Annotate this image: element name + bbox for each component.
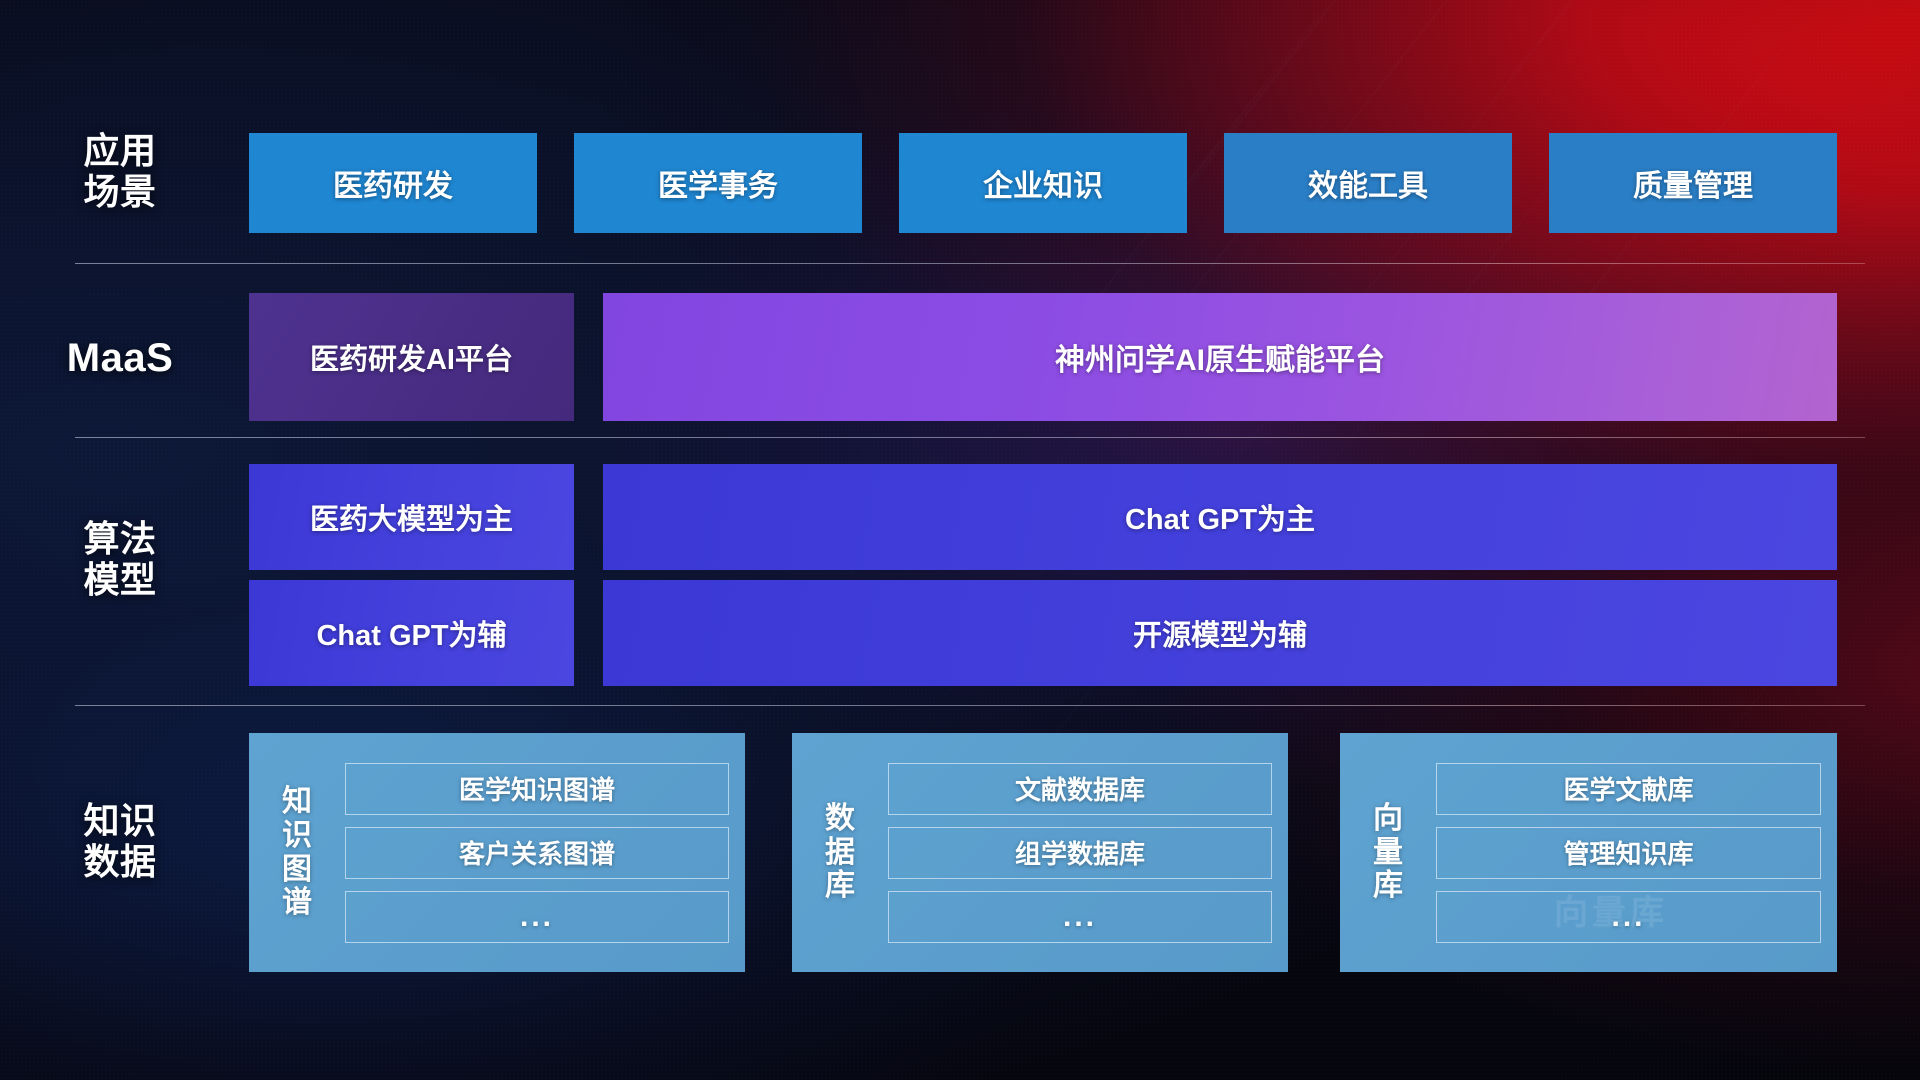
knowledge-item-2-2[interactable]: ... <box>1436 891 1821 943</box>
knowledge-item-1-0[interactable]: 文献数据库 <box>888 763 1272 815</box>
algo-cell-0-left-label: 医药大模型为主 <box>310 496 513 538</box>
app-cell-0-label: 医药研发 <box>333 161 453 205</box>
knowledge-panel-0-title: 知 识 图 谱 <box>249 785 345 919</box>
algo-cell-1-left-label: Chat GPT为辅 <box>316 612 506 654</box>
knowledge-panel-1-items: 文献数据库 组学数据库 ... <box>888 763 1272 943</box>
algo-cell-0-right[interactable]: Chat GPT为主 <box>603 464 1837 570</box>
knowledge-panel-2-title: 向 量 库 <box>1340 802 1436 903</box>
app-cell-4-label: 质量管理 <box>1633 161 1753 205</box>
knowledge-panel-0-items: 医学知识图谱 客户关系图谱 ... <box>345 763 729 943</box>
knowledge-panel-1-title: 数 据 库 <box>792 802 888 903</box>
knowledge-item-2-0[interactable]: 医学文献库 <box>1436 763 1821 815</box>
knowledge-item-1-1[interactable]: 组学数据库 <box>888 827 1272 879</box>
divider-application-maas <box>75 263 1865 264</box>
app-cell-1-label: 医学事务 <box>658 161 778 205</box>
knowledge-item-1-2[interactable]: ... <box>888 891 1272 943</box>
knowledge-panel-2-items: 医学文献库 管理知识库 ... <box>1436 763 1821 943</box>
maas-cell-left-label: 医药研发AI平台 <box>310 336 513 378</box>
maas-cell-right-label: 神州问学AI原生赋能平台 <box>1055 335 1385 379</box>
row-label-knowledge-data: 知识 数据 <box>0 800 240 882</box>
app-cell-3-label: 效能工具 <box>1308 161 1428 205</box>
app-cell-0[interactable]: 医药研发 <box>249 133 537 233</box>
algo-cell-0-right-label: Chat GPT为主 <box>1125 496 1315 538</box>
knowledge-panel-database[interactable]: 数 据 库 文献数据库 组学数据库 ... <box>792 733 1288 972</box>
app-cell-4[interactable]: 质量管理 <box>1549 133 1837 233</box>
maas-cell-left[interactable]: 医药研发AI平台 <box>249 293 574 421</box>
architecture-diagram: 应用 场景 医药研发 医学事务 企业知识 效能工具 质量管理 MaaS 医药研发… <box>0 0 1920 1080</box>
app-cell-2[interactable]: 企业知识 <box>899 133 1187 233</box>
knowledge-panel-vector-store[interactable]: 向 量 库 医学文献库 管理知识库 ... 向量库 <box>1340 733 1837 972</box>
row-label-maas: MaaS <box>0 336 240 382</box>
divider-maas-algorithm <box>75 437 1865 438</box>
app-cell-3[interactable]: 效能工具 <box>1224 133 1512 233</box>
divider-algorithm-knowledge <box>75 705 1865 706</box>
algo-cell-1-right-label: 开源模型为辅 <box>1133 612 1307 654</box>
knowledge-item-0-2[interactable]: ... <box>345 891 729 943</box>
algo-cell-1-right[interactable]: 开源模型为辅 <box>603 580 1837 686</box>
app-cell-1[interactable]: 医学事务 <box>574 133 862 233</box>
algo-cell-0-left[interactable]: 医药大模型为主 <box>249 464 574 570</box>
algo-cell-1-left[interactable]: Chat GPT为辅 <box>249 580 574 686</box>
row-label-algorithm-model: 算法 模型 <box>0 518 240 600</box>
knowledge-panel-knowledge-graph[interactable]: 知 识 图 谱 医学知识图谱 客户关系图谱 ... <box>249 733 745 972</box>
knowledge-item-0-0[interactable]: 医学知识图谱 <box>345 763 729 815</box>
row-label-application-scenarios: 应用 场景 <box>0 130 240 212</box>
app-cell-2-label: 企业知识 <box>983 161 1103 205</box>
knowledge-item-0-1[interactable]: 客户关系图谱 <box>345 827 729 879</box>
maas-cell-right[interactable]: 神州问学AI原生赋能平台 <box>603 293 1837 421</box>
knowledge-item-2-1[interactable]: 管理知识库 <box>1436 827 1821 879</box>
